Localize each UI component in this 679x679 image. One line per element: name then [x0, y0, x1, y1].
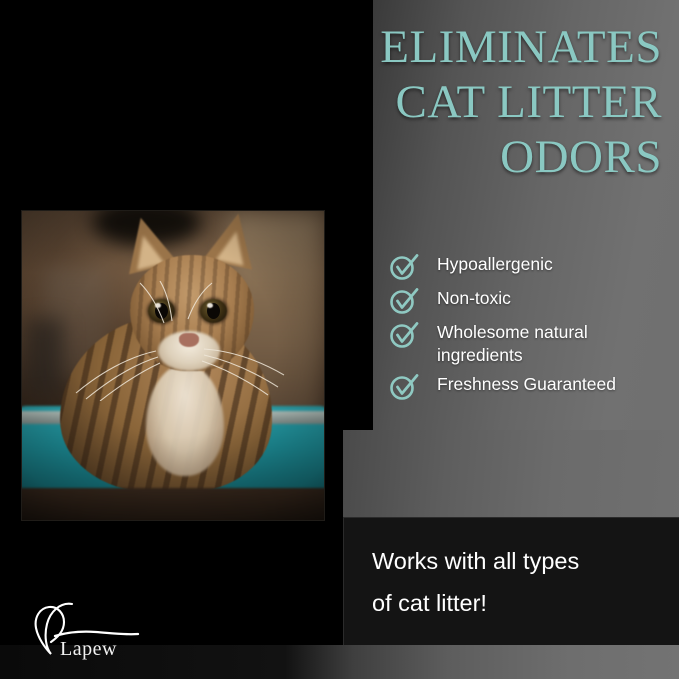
headline-line-2: CAT LITTER	[296, 75, 662, 130]
brand-logo: Lapew	[20, 598, 160, 662]
benefits-list: Hypoallergenic Non-toxic Wholesome natur…	[389, 250, 674, 404]
benefit-label: Non-toxic	[437, 284, 511, 310]
kitten-photo	[22, 211, 324, 520]
benefit-item: Freshness Guaranteed	[389, 370, 674, 401]
tagline-line-1: Works with all types	[372, 540, 662, 582]
tagline-text: Works with all types of cat litter!	[372, 540, 662, 624]
benefit-label: Wholesome natural ingredients	[437, 318, 669, 367]
headline: ELIMINATES CAT LITTER ODORS	[296, 20, 662, 185]
benefit-item: Wholesome natural ingredients	[389, 318, 674, 367]
tagline-line-2: of cat litter!	[372, 582, 662, 624]
benefit-item: Non-toxic	[389, 284, 674, 315]
check-circle-icon	[389, 371, 419, 401]
check-circle-icon	[389, 251, 419, 281]
logo-wordmark: Lapew	[60, 638, 117, 661]
photo-vignette	[22, 211, 324, 520]
check-circle-icon	[389, 285, 419, 315]
tagline-panel: Works with all types of cat litter!	[343, 517, 679, 646]
benefit-item: Hypoallergenic	[389, 250, 674, 281]
benefit-label: Freshness Guaranteed	[437, 370, 616, 396]
headline-line-1: ELIMINATES	[296, 20, 662, 75]
check-circle-icon	[389, 319, 419, 349]
product-ad-image: ELIMINATES CAT LITTER ODORS Hypoallergen…	[0, 0, 679, 679]
benefit-label: Hypoallergenic	[437, 250, 553, 276]
headline-line-3: ODORS	[296, 130, 662, 185]
